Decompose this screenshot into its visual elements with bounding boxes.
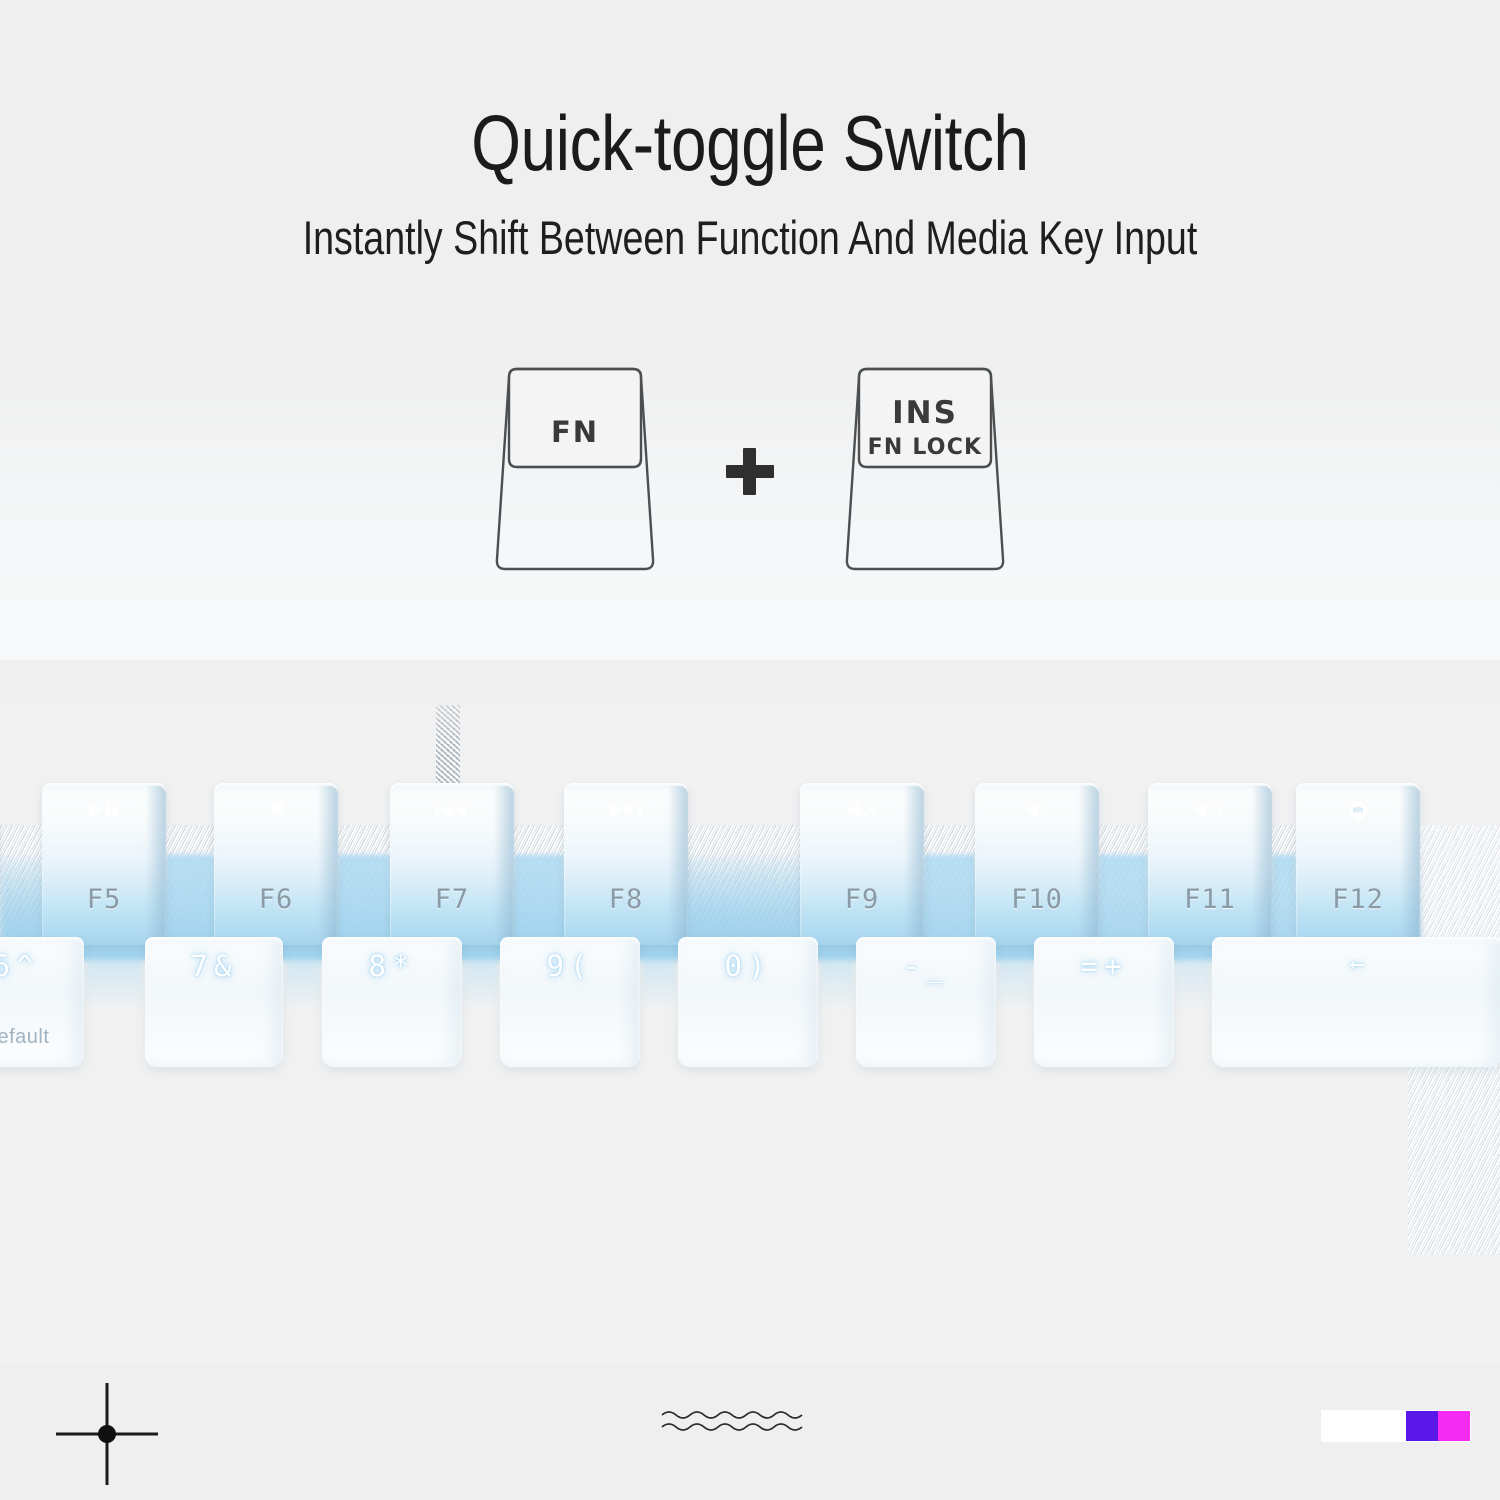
key-f6[interactable]: F6	[214, 783, 338, 945]
keycap-label-ins: INS	[805, 395, 1045, 431]
color-registration-bar	[1322, 1411, 1470, 1441]
key-f8[interactable]: F8	[564, 783, 688, 945]
key-legend: 8*	[322, 949, 462, 983]
footer-print-marks	[0, 1365, 1500, 1500]
key-legend: -_	[856, 949, 996, 983]
key-label: F7	[390, 884, 514, 915]
key-label: F5	[42, 884, 166, 915]
key-f11[interactable]: F11	[1148, 783, 1272, 945]
play-pause-icon	[42, 799, 166, 820]
headset-icon	[1296, 799, 1420, 823]
key-equal[interactable]: =+	[1034, 937, 1174, 1067]
key-f12[interactable]: F12	[1296, 783, 1420, 945]
key-7[interactable]: 7&	[145, 937, 283, 1067]
key-6[interactable]: 6^ Default	[0, 937, 84, 1067]
key-legend: =+	[1034, 949, 1174, 983]
key-f10[interactable]: F10	[975, 783, 1099, 945]
key-label: F10	[975, 884, 1099, 915]
keycap-label-fn: FN	[455, 415, 695, 449]
key-f9[interactable]: F9	[800, 783, 924, 945]
key-legend: 6^	[0, 949, 84, 983]
key-sublegend: Default	[0, 1026, 84, 1049]
keycap-fn: FN	[455, 363, 695, 588]
plus-icon	[695, 425, 805, 525]
previous-track-icon	[390, 799, 514, 820]
key-minus[interactable]: -_	[856, 937, 996, 1067]
page-subtitle: Instantly Shift Between Function And Med…	[150, 214, 1350, 261]
key-legend: 9(	[500, 949, 640, 983]
key-label: F6	[214, 884, 338, 915]
color-swatch-violet	[1406, 1411, 1438, 1441]
key-f5[interactable]: F5	[42, 783, 166, 945]
mute-icon	[800, 799, 924, 820]
keyboard-photo: F5 F6 F7 F8 F9 F10	[0, 705, 1500, 1365]
next-track-icon	[564, 799, 688, 820]
stop-icon	[214, 799, 338, 820]
volume-down-icon	[975, 799, 1099, 820]
key-legend: 0)	[678, 949, 818, 983]
key-combo-diagram: FN INS FN LOCK	[0, 355, 1500, 595]
double-wavy-line-icon	[660, 1403, 830, 1443]
key-f7[interactable]: F7	[390, 783, 514, 945]
key-label: F11	[1148, 884, 1272, 915]
key-8[interactable]: 8*	[322, 937, 462, 1067]
keycap-label-fnlock: FN LOCK	[805, 435, 1045, 460]
crosshair-registration-mark-icon	[52, 1379, 162, 1489]
keycap-outline-icon	[455, 363, 695, 588]
color-swatch-magenta	[1438, 1411, 1470, 1441]
key-label: F8	[564, 884, 688, 915]
key-legend: 7&	[145, 949, 283, 983]
key-9[interactable]: 9(	[500, 937, 640, 1067]
key-backspace[interactable]: ←	[1212, 937, 1500, 1067]
keycap-ins-fnlock: INS FN LOCK	[805, 363, 1045, 588]
color-swatch-white	[1322, 1411, 1406, 1441]
header-block: Quick-toggle Switch Instantly Shift Betw…	[0, 0, 1500, 300]
volume-up-icon	[1148, 799, 1272, 820]
key-label: F12	[1296, 884, 1420, 915]
key-label: F9	[800, 884, 924, 915]
page-title: Quick-toggle Switch	[135, 104, 1365, 182]
key-0[interactable]: 0)	[678, 937, 818, 1067]
key-legend: ←	[1212, 949, 1500, 978]
